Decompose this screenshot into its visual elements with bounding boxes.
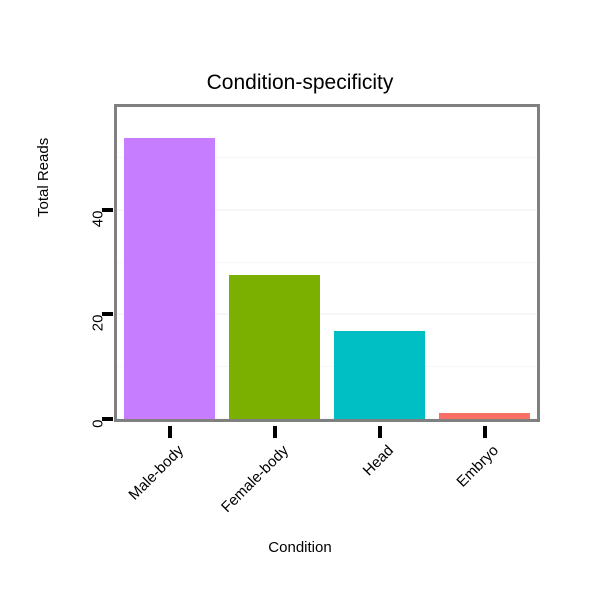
plot-panel bbox=[114, 104, 540, 422]
x-tick-label: Female-body bbox=[209, 442, 292, 525]
x-tick-mark bbox=[378, 426, 382, 438]
plot-area bbox=[117, 107, 537, 419]
x-tick-mark bbox=[273, 426, 277, 438]
x-tick-label: Head bbox=[314, 442, 397, 525]
bar-embryo[interactable] bbox=[439, 413, 531, 419]
y-tick-label: 20 bbox=[91, 315, 106, 355]
x-tick-label: Male-body bbox=[104, 442, 187, 525]
y-axis-title: Total Reads bbox=[34, 197, 54, 217]
x-tick-mark bbox=[168, 426, 172, 438]
x-tick-mark bbox=[483, 426, 487, 438]
bar-head[interactable] bbox=[334, 331, 426, 419]
x-axis-title: Condition bbox=[0, 538, 600, 557]
chart-figure: Condition-specificity 02040 Total Reads … bbox=[0, 0, 600, 600]
chart-title: Condition-specificity bbox=[0, 70, 600, 96]
bar-male-body[interactable] bbox=[124, 138, 216, 419]
y-tick-label: 0 bbox=[91, 420, 106, 460]
bar-female-body[interactable] bbox=[229, 275, 321, 419]
y-tick-label: 40 bbox=[91, 210, 106, 250]
x-tick-label: Embryo bbox=[419, 442, 502, 525]
